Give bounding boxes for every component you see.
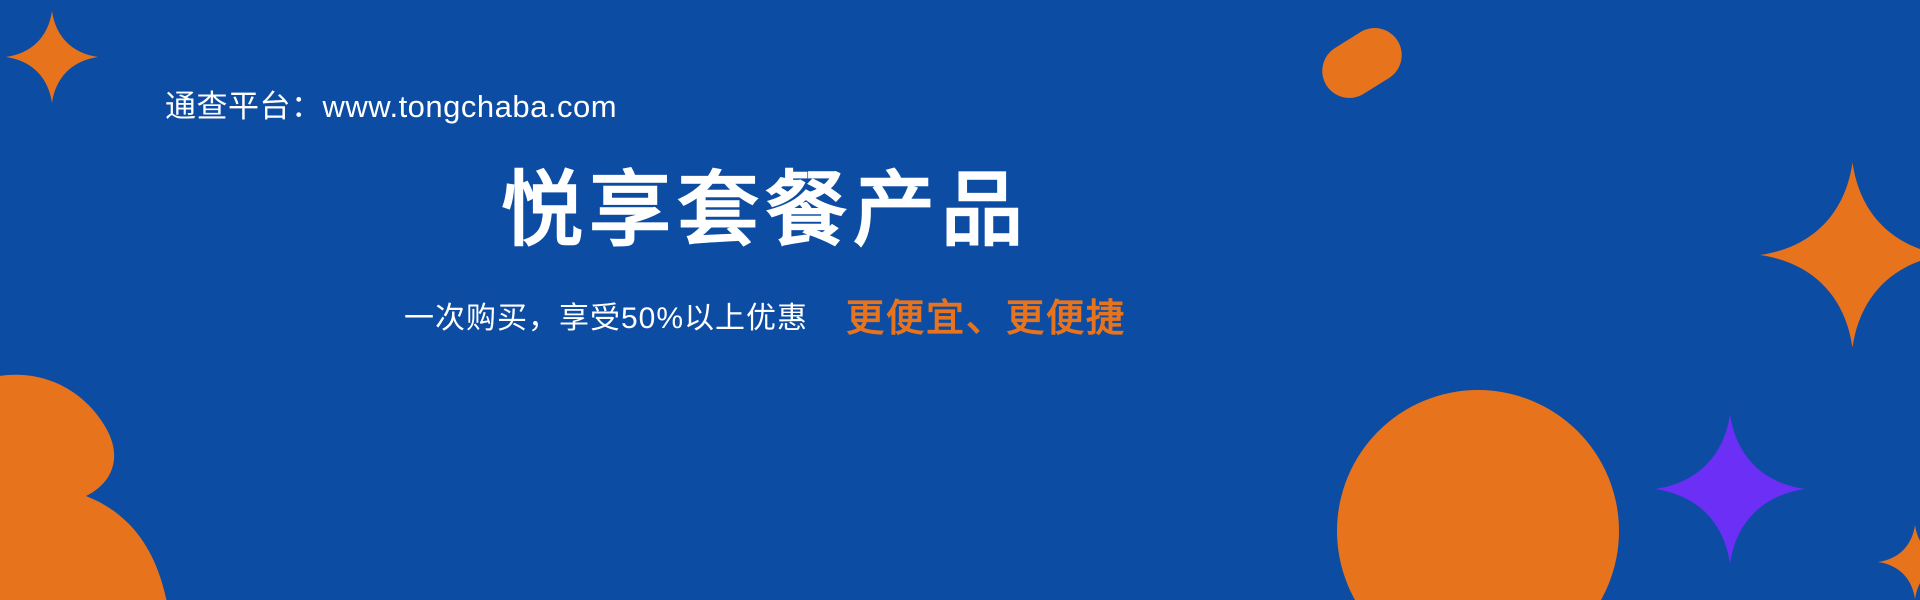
- subtitle-primary: 一次购买，享受50%以上优惠: [404, 302, 808, 335]
- banner-content: 通查平台：www.tongchaba.com 悦享套餐产品 一次购买，享受50%…: [0, 0, 1920, 600]
- page-title: 悦享套餐产品: [0, 163, 1530, 259]
- promo-banner: 通查平台：www.tongchaba.com 悦享套餐产品 一次购买，享受50%…: [0, 0, 1920, 600]
- subtitle-row: 一次购买，享受50%以上优惠更便宜、更便捷: [0, 292, 1530, 346]
- site-label: 通查平台：: [165, 89, 323, 124]
- subtitle-highlight: 更便宜、更便捷: [846, 298, 1126, 340]
- site-url: www.tongchaba.com: [323, 89, 618, 124]
- site-line: 通查平台：www.tongchaba.com: [165, 86, 617, 128]
